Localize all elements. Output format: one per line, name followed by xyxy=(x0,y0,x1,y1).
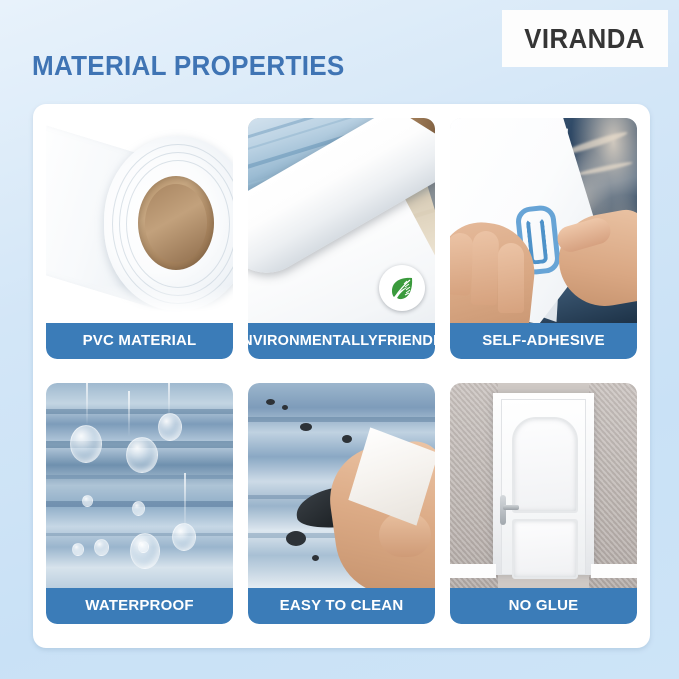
brand-logo-box: VIRANDA xyxy=(502,10,668,67)
pvc-bottom-fade xyxy=(46,285,233,323)
door-panel-bottom xyxy=(512,519,578,579)
leaf-icon xyxy=(386,272,418,304)
door-handle xyxy=(503,505,519,510)
wall-left xyxy=(450,383,498,588)
stain-spot xyxy=(282,405,288,410)
feature-grid: PVC MATERIAL xyxy=(46,118,637,633)
water-droplet xyxy=(126,437,158,473)
droplet-trail xyxy=(128,391,130,437)
door-panel-top xyxy=(512,417,578,513)
image-self-adhesive-peel xyxy=(450,118,637,323)
feature-card-easy-to-clean[interactable]: EASY TO CLEAN xyxy=(248,383,435,624)
water-droplet-small xyxy=(138,541,149,553)
stain-spot xyxy=(300,423,312,431)
stain-spot xyxy=(286,531,306,546)
feature-card-pvc-material[interactable]: PVC MATERIAL xyxy=(46,118,233,359)
feature-card-environmentally-friendly[interactable]: ENVIRONMENTALLY FRIENDLY xyxy=(248,118,435,359)
image-water-droplets xyxy=(46,383,233,588)
page-title: MATERIAL PROPERTIES xyxy=(32,50,345,82)
water-droplet xyxy=(172,523,196,551)
card-label-waterproof: WATERPROOF xyxy=(46,588,233,624)
poster-root: VIRANDA MATERIAL PROPERTIES PVC MATERIAL xyxy=(0,0,679,679)
image-pvc-roll xyxy=(46,118,233,323)
water-droplet-small xyxy=(94,539,109,556)
water-droplet xyxy=(158,413,182,441)
baseboard-right xyxy=(591,564,637,578)
image-wiping-stain xyxy=(248,383,435,588)
image-eco-rolled-sheet xyxy=(248,118,435,323)
card-label-pvc-material: PVC MATERIAL xyxy=(46,323,233,359)
image-white-door xyxy=(450,383,637,588)
card-label-environmentally-friendly: ENVIRONMENTALLY FRIENDLY xyxy=(248,323,435,359)
door-handle-plate xyxy=(500,495,506,525)
feature-card-waterproof[interactable]: WATERPROOF xyxy=(46,383,233,624)
water-droplet-small xyxy=(132,501,145,516)
finger xyxy=(498,243,524,313)
stain-spot xyxy=(312,555,319,561)
card-label-no-glue: NO GLUE xyxy=(450,588,637,624)
water-droplet-small xyxy=(82,495,93,507)
brand-logo-text: VIRANDA xyxy=(525,23,646,55)
droplet-trail xyxy=(86,383,88,425)
droplet-trail xyxy=(168,383,170,417)
card-label-easy-to-clean: EASY TO CLEAN xyxy=(248,588,435,624)
pvc-core-inner xyxy=(145,184,207,262)
card-label-self-adhesive: SELF-ADHESIVE xyxy=(450,323,637,359)
feature-card-self-adhesive[interactable]: SELF-ADHESIVE xyxy=(450,118,637,359)
label-line-2: FRIENDLY xyxy=(378,333,435,349)
finger xyxy=(471,231,500,306)
stain-spot xyxy=(342,435,352,443)
water-droplet-small xyxy=(72,543,84,556)
stain-spot xyxy=(266,399,275,405)
feature-card-no-glue[interactable]: NO GLUE xyxy=(450,383,637,624)
water-droplet xyxy=(70,425,102,463)
eco-leaf-badge xyxy=(379,265,425,311)
roll-open-tip xyxy=(405,118,435,144)
label-line-1: ENVIRONMENTALLY xyxy=(248,333,378,349)
wall-right xyxy=(589,383,637,588)
baseboard-left xyxy=(450,564,496,578)
